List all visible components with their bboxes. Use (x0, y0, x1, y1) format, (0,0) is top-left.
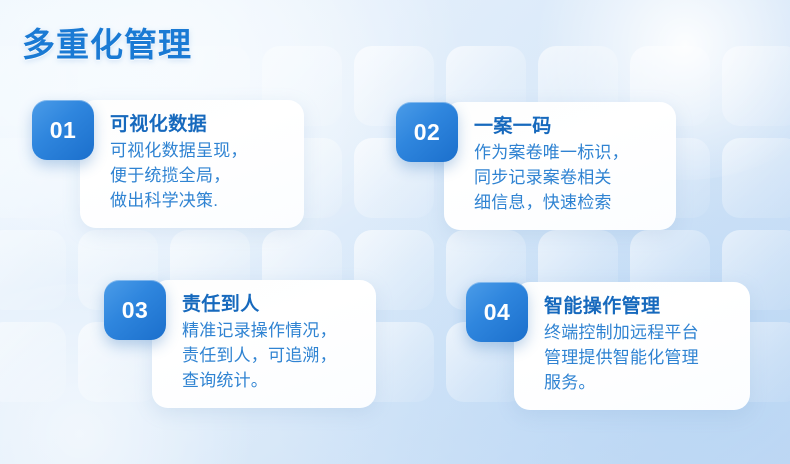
feature-card: 一案一码 作为案卷唯一标识， 同步记录案卷相关 细信息，快速检索 (444, 102, 676, 230)
page-title: 多重化管理 (22, 18, 192, 66)
feature-card: 责任到人 精准记录操作情况， 责任到人，可追溯， 查询统计。 (152, 280, 376, 408)
feature-title: 可视化数据 (110, 112, 288, 138)
feature-item-04: 04 智能操作管理 终端控制加远程平台 管理提供智能化管理 服务。 (466, 282, 750, 410)
feature-item-02: 02 一案一码 作为案卷唯一标识， 同步记录案卷相关 细信息，快速检索 (396, 102, 676, 230)
background-tile (722, 138, 790, 218)
feature-body: 作为案卷唯一标识， 同步记录案卷相关 细信息，快速检索 (474, 141, 660, 216)
background-tile (722, 46, 790, 126)
feature-card: 智能操作管理 终端控制加远程平台 管理提供智能化管理 服务。 (514, 282, 750, 410)
background-tile (0, 322, 66, 402)
feature-number-badge: 03 (104, 280, 166, 340)
feature-title: 智能操作管理 (544, 294, 734, 320)
feature-item-03: 03 责任到人 精准记录操作情况， 责任到人，可追溯， 查询统计。 (104, 280, 376, 408)
feature-title: 一案一码 (474, 114, 660, 140)
background-tile (0, 230, 66, 310)
feature-body: 精准记录操作情况， 责任到人，可追溯， 查询统计。 (182, 319, 360, 394)
feature-body: 终端控制加远程平台 管理提供智能化管理 服务。 (544, 321, 734, 396)
feature-title: 责任到人 (182, 292, 360, 318)
feature-item-01: 01 可视化数据 可视化数据呈现， 便于统揽全局， 做出科学决策. (32, 100, 304, 228)
slide-canvas: 多重化管理 01 可视化数据 可视化数据呈现， 便于统揽全局， 做出科学决策. … (0, 0, 790, 464)
feature-number-badge: 02 (396, 102, 458, 162)
feature-number-badge: 04 (466, 282, 528, 342)
feature-number-badge: 01 (32, 100, 94, 160)
feature-card: 可视化数据 可视化数据呈现， 便于统揽全局， 做出科学决策. (80, 100, 304, 228)
feature-body: 可视化数据呈现， 便于统揽全局， 做出科学决策. (110, 139, 288, 214)
